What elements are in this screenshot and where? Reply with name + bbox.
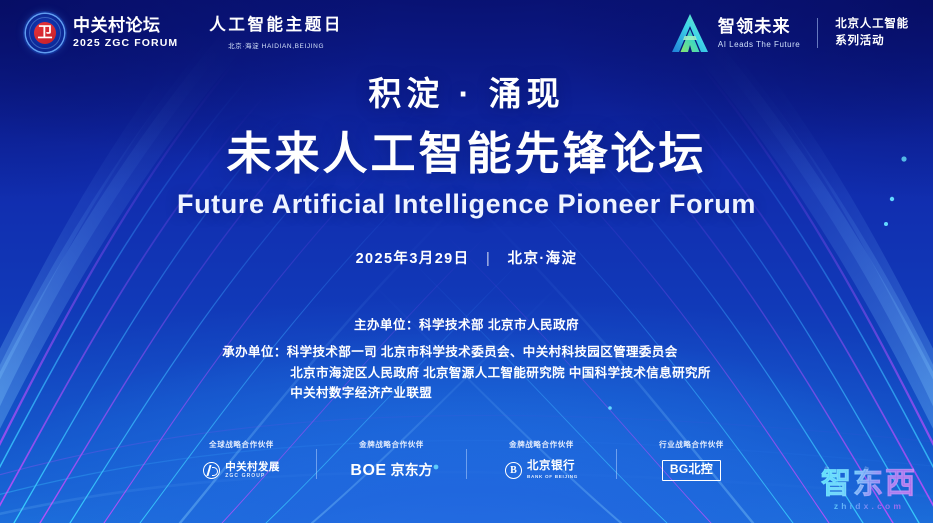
boe-wordmark: BOE京东方 xyxy=(350,460,432,480)
watermark-text-cn: 智东西 xyxy=(821,469,917,499)
logo-divider xyxy=(817,18,818,48)
date-location-line: 2025年3月29日 | 北京·海淀 xyxy=(0,247,933,268)
partner-boe: 金牌战略合作伙伴 BOE京东方 xyxy=(317,440,467,481)
kicker-text: 积淀 · 涌现 xyxy=(0,74,933,114)
watermark-text-en: zhidx.com xyxy=(821,501,917,511)
zgc-forum-wordmark: 中关村论坛 2025 ZGC FORUM xyxy=(73,16,178,49)
series-label: 北京人工智能 系列活动 xyxy=(835,16,909,49)
zgc-forum-name-en: 2025 ZGC FORUM xyxy=(73,37,178,50)
partner-label-gold-2: 金牌战略合作伙伴 xyxy=(471,440,613,449)
partner-bank-of-beijing: 金牌战略合作伙伴 B 北京银行 BANK OF BEIJING xyxy=(467,440,617,481)
theme-day-title: 人工智能主题日 xyxy=(209,16,343,36)
bank-of-beijing-name-en: BANK OF BEIJING xyxy=(527,474,578,480)
zgc-badge-glyph: 卫 xyxy=(34,22,56,44)
bank-of-beijing-mark-icon: B xyxy=(505,462,522,479)
page-title: 未来人工智能先锋论坛 xyxy=(0,128,933,180)
bg-beikong-logo: BG北控 xyxy=(621,459,763,481)
co-organizers-line-1: 承办单位：科学技术部一司 北京市科学技术委员会、中关村科技园区管理委员会 xyxy=(222,342,711,363)
boe-name-cn: 京东方 xyxy=(391,462,433,478)
partner-label-industry: 行业战略合作伙伴 xyxy=(621,440,763,449)
page-title-en: Future Artificial Intelligence Pioneer F… xyxy=(0,188,933,220)
boe-logo: BOE京东方 xyxy=(321,459,463,481)
zgc-group-name-cn: 中关村发展 xyxy=(225,461,280,473)
co-organizers-list: 承办单位：科学技术部一司 北京市科学技术委员会、中关村科技园区管理委员会 北京市… xyxy=(222,342,711,404)
date-location-divider: | xyxy=(486,251,491,267)
host-organizers-line: 主办单位：科学技术部 北京市人民政府 xyxy=(0,318,933,333)
ai-leads-future-logo: 智领未来 AI Leads The Future 北京人工智能 系列活动 xyxy=(670,12,909,54)
ai-leads-wordmark: 智领未来 AI Leads The Future xyxy=(718,17,800,48)
event-date: 2025年3月29日 xyxy=(356,251,470,267)
ai-leads-name-en: AI Leads The Future xyxy=(718,40,800,49)
watermark: 智东西 zhidx.com xyxy=(821,469,917,511)
zgc-group-name-en: ZGC GROUP xyxy=(225,473,280,479)
partner-zgc-group: 全球战略合作伙伴 中关村发展 ZGC GROUP xyxy=(167,440,317,481)
zgc-forum-logo: 卫 中关村论坛 2025 ZGC FORUM 人工智能主题日 北京·海淀 HAI… xyxy=(26,14,343,52)
partner-label-global: 全球战略合作伙伴 xyxy=(171,440,313,449)
event-location: 北京·海淀 xyxy=(508,251,578,267)
zgc-group-logo: 中关村发展 ZGC GROUP xyxy=(171,459,313,481)
co-organizers-line-2: 北京市海淀区人民政府 北京智源人工智能研究院 中国科学技术信息研究所 xyxy=(222,363,711,384)
theme-day-subtitle: 北京·海淀 HAIDIAN,BEIJING xyxy=(209,40,343,50)
theme-day-block: 人工智能主题日 北京·海淀 HAIDIAN,BEIJING xyxy=(209,16,343,50)
triangle-a-icon xyxy=(670,12,710,54)
poster-header: 卫 中关村论坛 2025 ZGC FORUM 人工智能主题日 北京·海淀 HAI… xyxy=(0,0,933,72)
zgc-group-mark-icon xyxy=(203,462,220,479)
bg-beikong-wordmark: BG北控 xyxy=(662,460,721,481)
boe-name-en: BOE xyxy=(350,462,386,479)
series-label-line1: 北京人工智能 xyxy=(835,16,909,33)
bank-of-beijing-wordmark: 北京银行 BANK OF BEIJING xyxy=(527,460,578,479)
ai-leads-name-cn: 智领未来 xyxy=(718,17,800,37)
partners-row: 全球战略合作伙伴 中关村发展 ZGC GROUP 金牌战略合作伙伴 BOE京东方… xyxy=(0,440,933,481)
bank-of-beijing-name-cn: 北京银行 xyxy=(527,460,578,473)
zgc-forum-badge-icon: 卫 xyxy=(26,14,64,52)
poster-stage: 卫 中关村论坛 2025 ZGC FORUM 人工智能主题日 北京·海淀 HAI… xyxy=(0,0,933,523)
zgc-group-wordmark: 中关村发展 ZGC GROUP xyxy=(225,461,280,479)
organizers-block: 主办单位：科学技术部 北京市人民政府 承办单位：科学技术部一司 北京市科学技术委… xyxy=(0,318,933,404)
zgc-forum-name-cn: 中关村论坛 xyxy=(73,16,178,36)
series-label-line2: 系列活动 xyxy=(835,33,909,50)
bank-of-beijing-logo: B 北京银行 BANK OF BEIJING xyxy=(471,459,613,481)
partner-bg-beikong: 行业战略合作伙伴 BG北控 xyxy=(617,440,767,481)
partner-label-gold-1: 金牌战略合作伙伴 xyxy=(321,440,463,449)
co-organizers-line-3: 中关村数字经济产业联盟 xyxy=(222,383,711,404)
